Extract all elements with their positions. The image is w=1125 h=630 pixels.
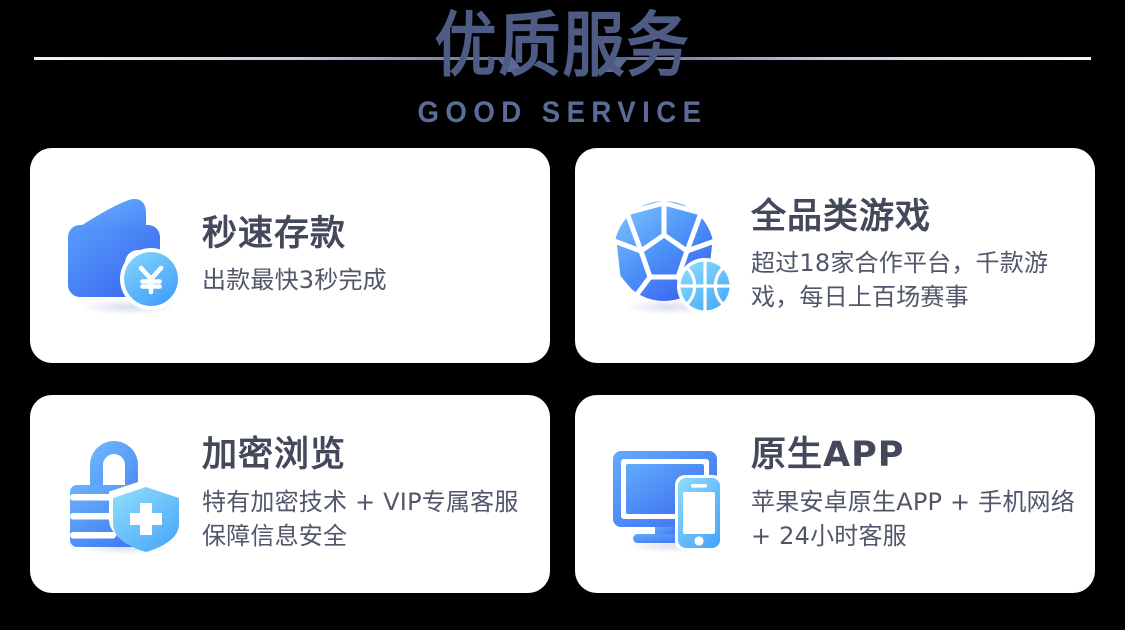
card-title: 加密浏览 (202, 435, 532, 475)
feature-card-games[interactable]: 全品类游戏 超过18家合作平台，千款游戏，每日上百场赛事 (575, 148, 1095, 363)
page-title: 优质服务 (0, 8, 1125, 73)
page-title-cn: 优质服务 (434, 8, 690, 82)
card-subtitle: 特有加密技术 + VIP专属客服保障信息安全 (202, 485, 532, 553)
feature-card-native-app[interactable]: 原生APP 苹果安卓原生APP + 手机网络 + 24小时客服 (575, 395, 1095, 593)
card-text-block: 加密浏览 特有加密技术 + VIP专属客服保障信息安全 (202, 435, 532, 552)
card-text-block: 秒速存款 出款最快3秒完成 (202, 214, 532, 297)
card-text-block: 原生APP 苹果安卓原生APP + 手机网络 + 24小时客服 (751, 435, 1077, 552)
wallet-yen-icon (62, 191, 192, 321)
card-subtitle: 出款最快3秒完成 (202, 263, 532, 297)
feature-card-encryption[interactable]: 加密浏览 特有加密技术 + VIP专属客服保障信息安全 (30, 395, 550, 593)
page-title-en: GOOD SERVICE (45, 96, 1080, 130)
card-title: 原生APP (751, 435, 1077, 475)
card-title: 秒速存款 (202, 214, 532, 254)
feature-card-grid: 秒速存款 出款最快3秒完成 (30, 148, 1095, 593)
monitor-phone-icon (607, 429, 737, 559)
poster-root: 优质服务 GOOD SERVICE (0, 0, 1125, 630)
card-text-block: 全品类游戏 超过18家合作平台，千款游戏，每日上百场赛事 (751, 197, 1077, 314)
card-subtitle: 超过18家合作平台，千款游戏，每日上百场赛事 (751, 246, 1077, 314)
soccer-basketball-icon (607, 191, 737, 321)
feature-card-deposit[interactable]: 秒速存款 出款最快3秒完成 (30, 148, 550, 363)
lock-shield-icon (62, 429, 192, 559)
card-subtitle: 苹果安卓原生APP + 手机网络 + 24小时客服 (751, 485, 1077, 553)
poster-header: 优质服务 GOOD SERVICE (0, 0, 1125, 142)
card-title: 全品类游戏 (751, 197, 1077, 237)
